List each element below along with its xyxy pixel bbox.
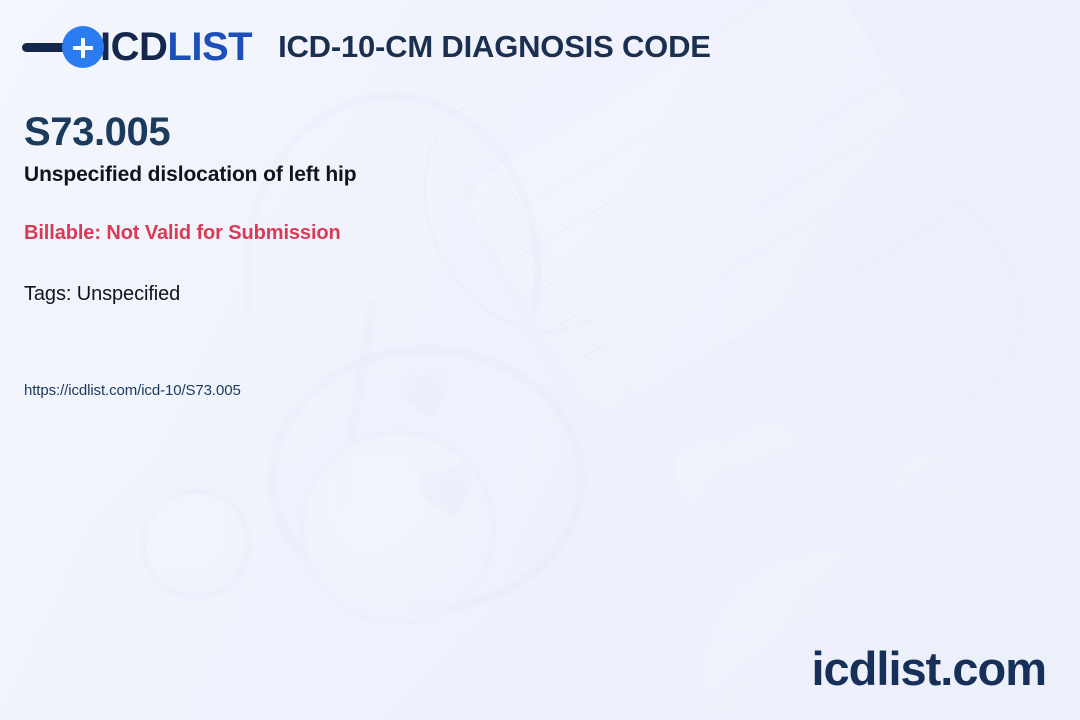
icdlist-logo[interactable]: ICDLIST: [22, 26, 252, 68]
hand-finger-graphic: [848, 447, 962, 608]
mask-edge: [459, 168, 636, 421]
mask-pleat: [565, 147, 934, 369]
mask-pleat: [503, 44, 872, 266]
mask-pleat: [544, 113, 913, 335]
mask-ear-loop: [795, 152, 1056, 434]
small-heart-shape: [410, 462, 487, 536]
diagnosis-code: S73.005: [24, 110, 357, 154]
tags-line: Tags: Unspecified: [24, 283, 357, 306]
mask-pleat: [524, 78, 893, 300]
share-card-canvas: ICDLIST ICD-10-CM DIAGNOSIS CODE S73.005…: [0, 0, 1080, 720]
source-url[interactable]: https://icdlist.com/icd-10/S73.005: [24, 382, 241, 399]
billable-status: Billable: Not Valid for Submission: [24, 222, 357, 245]
stethoscope-diaphragm: [300, 430, 496, 626]
hand-finger-graphic: [888, 475, 1003, 619]
background-medical-photo: [0, 0, 1080, 720]
header: ICDLIST ICD-10-CM DIAGNOSIS CODE: [22, 26, 711, 68]
paper-heart-graphic: [655, 414, 838, 592]
code-details: S73.005 Unspecified dislocation of left …: [24, 110, 357, 306]
logo-wordmark: ICDLIST: [100, 27, 252, 67]
stethoscope-tube: [268, 345, 586, 613]
mask-ear-loop: [383, 57, 673, 370]
diagnosis-description: Unspecified dislocation of left hip: [24, 163, 357, 187]
photo-fade-overlay: [0, 0, 1080, 720]
brand-watermark: icdlist.com: [811, 641, 1046, 696]
hand-finger-graphic: [926, 508, 1037, 634]
stethoscope-chestpiece: [140, 488, 252, 600]
page-title: ICD-10-CM DIAGNOSIS CODE: [278, 29, 711, 65]
plus-circle-icon: [62, 26, 104, 68]
logo-word-list: LIST: [167, 25, 252, 69]
small-heart-shape: [391, 366, 464, 436]
stethoscope-stem: [336, 301, 378, 510]
logo-word-icd: ICD: [100, 25, 167, 69]
